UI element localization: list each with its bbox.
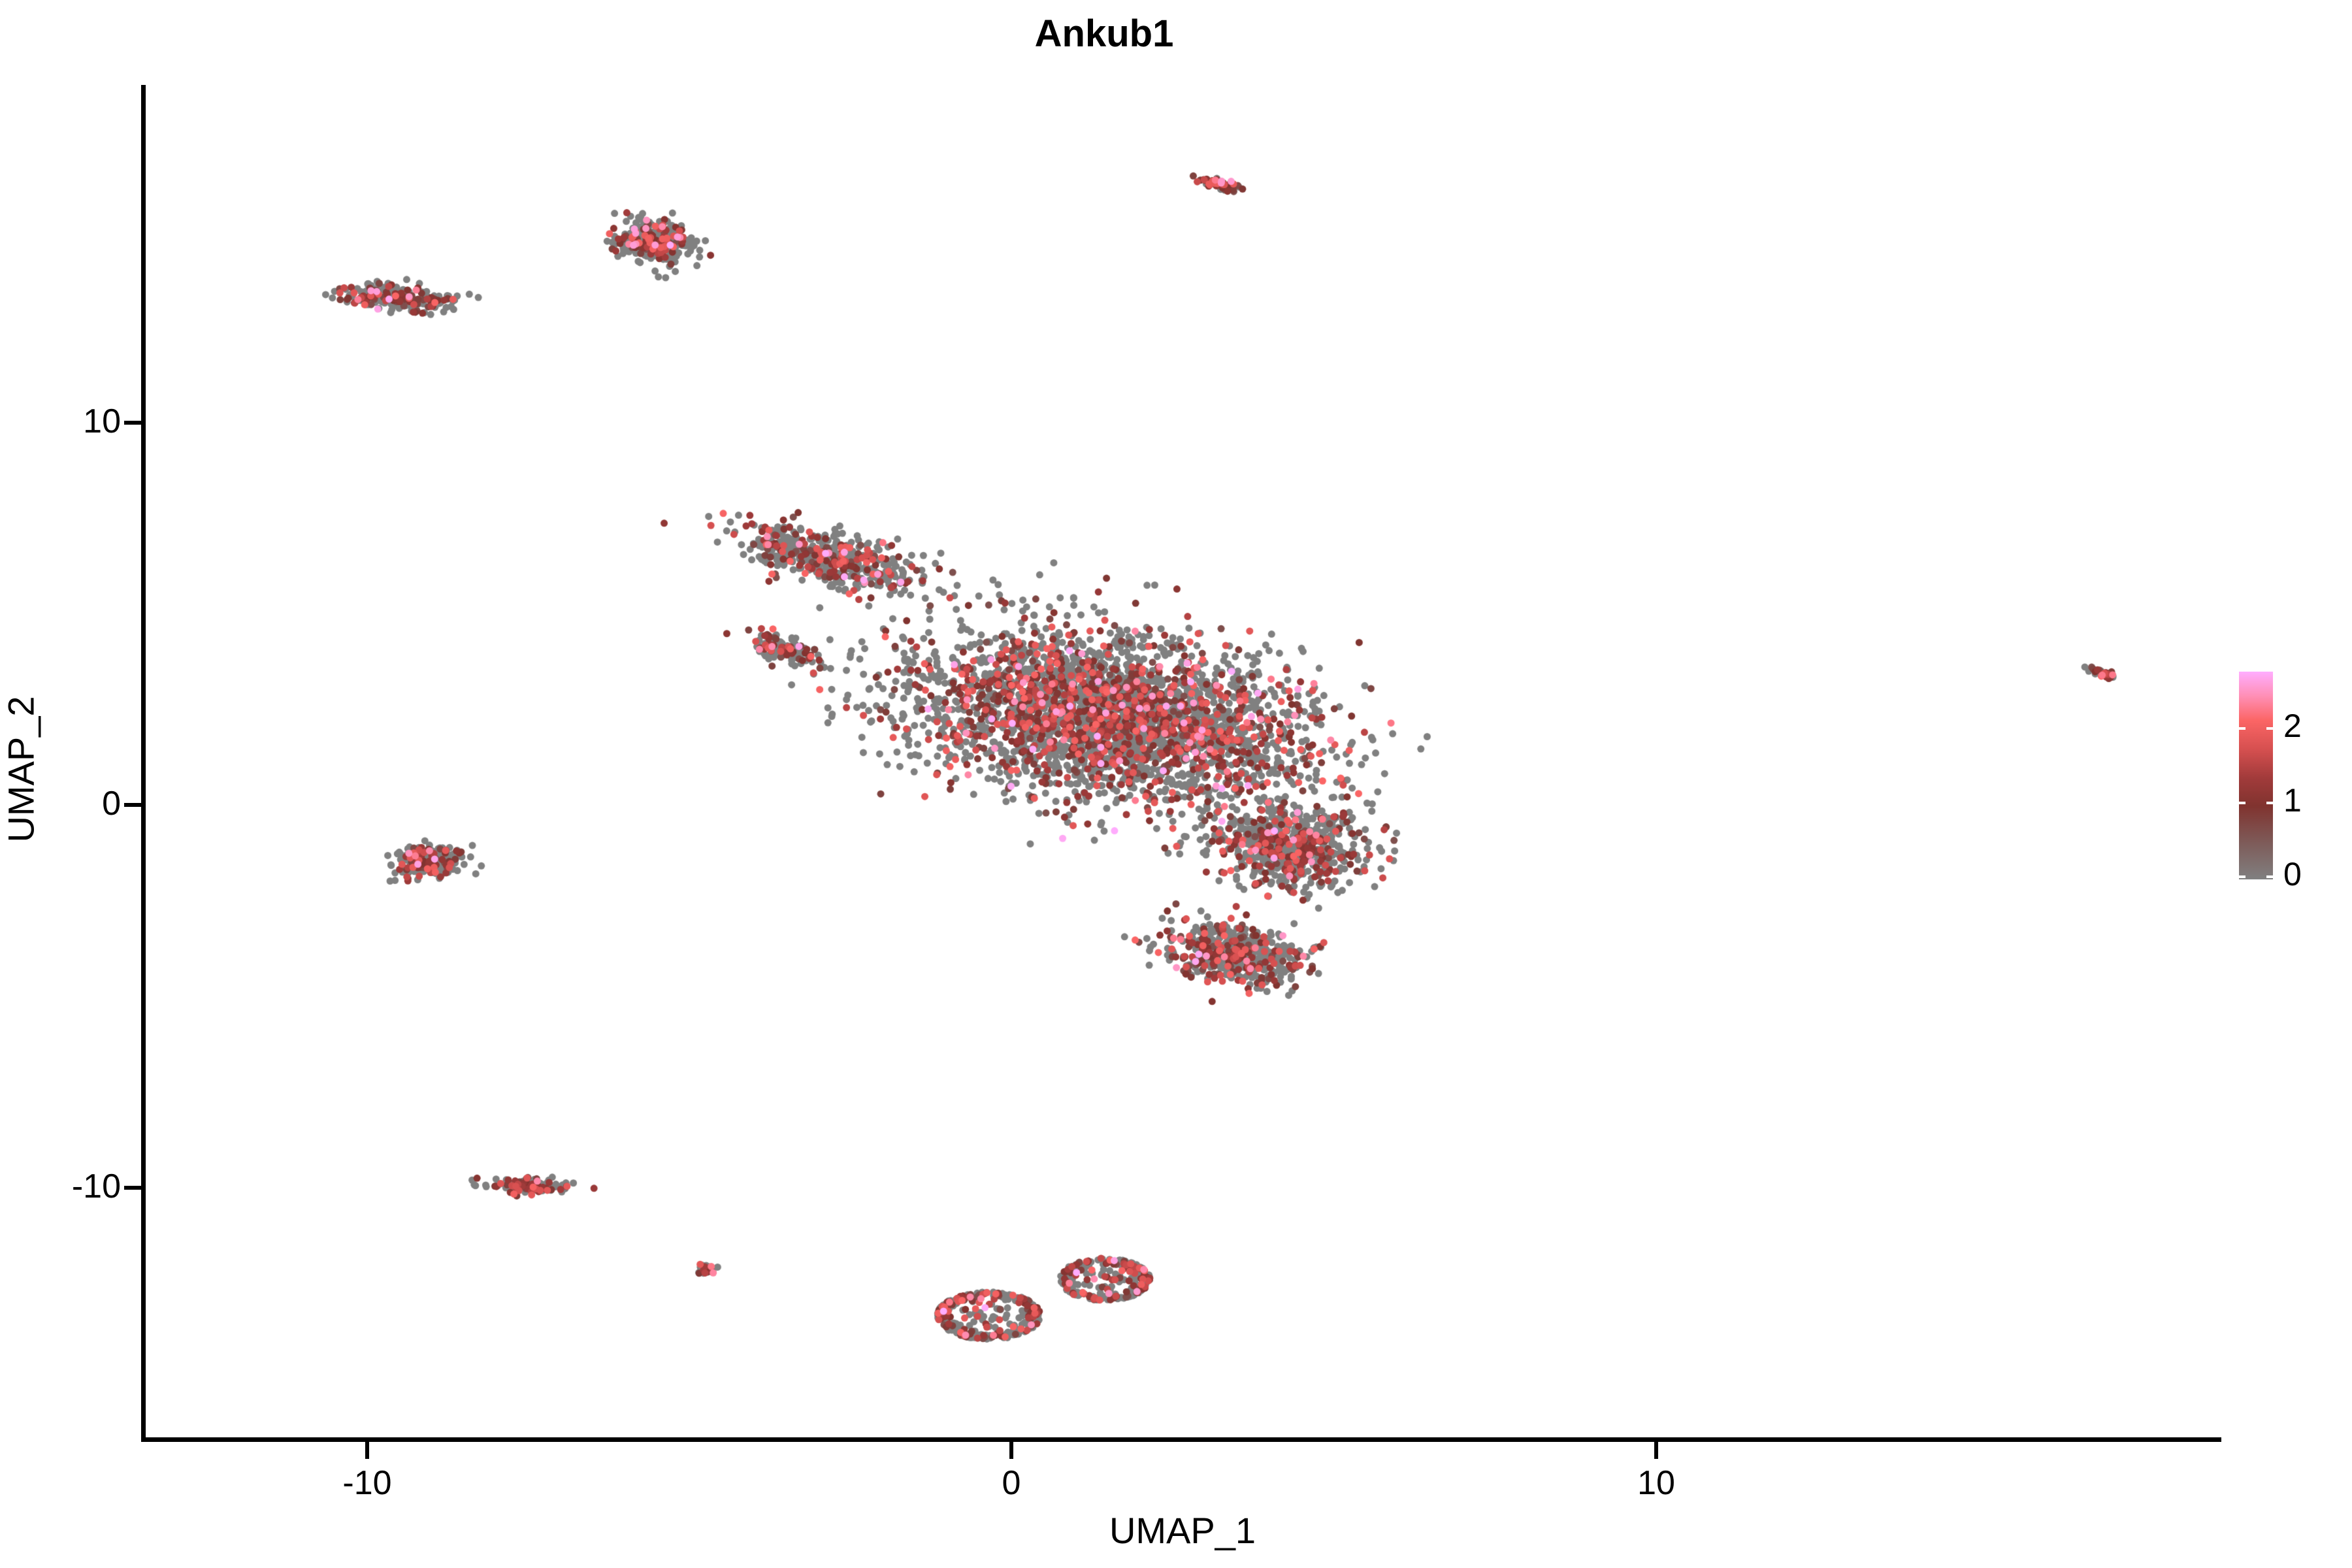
- y-tick-mark-10: [124, 421, 141, 425]
- colorbar-label-0: 0: [2283, 858, 2302, 890]
- y-tick-label-neg10: -10: [0, 1167, 121, 1206]
- colorbar-label-2: 2: [2283, 710, 2302, 742]
- y-tick-mark-0: [124, 803, 141, 807]
- colorbar-tick-2-left: [2239, 727, 2246, 730]
- umap-feature-plot: Ankub1 -10 0 10 10 0 -10 UMAP_1 UMAP_2 2…: [0, 0, 2352, 1568]
- colorbar-label-1: 1: [2283, 784, 2302, 817]
- x-tick-label-0: 0: [913, 1463, 1109, 1503]
- y-axis-line: [141, 85, 146, 1442]
- scatter-plot-canvas: [144, 85, 2221, 1439]
- page-title: Ankub1: [0, 12, 2208, 56]
- x-axis-title: UMAP_1: [144, 1509, 2221, 1552]
- x-tick-label-neg10: -10: [269, 1463, 465, 1503]
- y-axis-title: UMAP_2: [0, 672, 42, 868]
- y-tick-mark-neg10: [124, 1186, 141, 1190]
- x-tick-mark-0: [1009, 1442, 1013, 1459]
- x-tick-mark-neg10: [365, 1442, 369, 1459]
- colorbar-tick-1-right: [2266, 802, 2273, 804]
- colorbar-gradient: [2239, 672, 2273, 879]
- colorbar-tick-2-right: [2266, 727, 2273, 730]
- colorbar-tick-0-right: [2266, 875, 2273, 878]
- y-tick-label-10: 10: [0, 402, 121, 441]
- colorbar-tick-0-left: [2239, 875, 2246, 878]
- x-axis-line: [144, 1437, 2221, 1442]
- x-tick-mark-10: [1654, 1442, 1658, 1459]
- x-tick-label-10: 10: [1558, 1463, 1754, 1503]
- colorbar-tick-1-left: [2239, 802, 2246, 804]
- colorbar-legend: 2 1 0: [2239, 672, 2273, 879]
